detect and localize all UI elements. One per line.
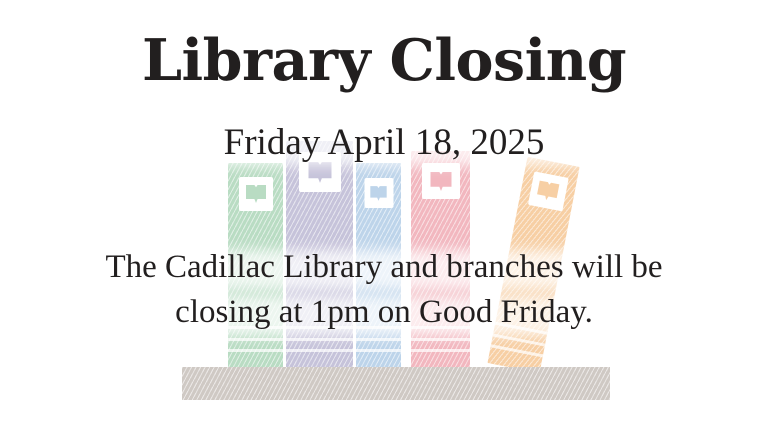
poster-text: Library Closing Friday April 18, 2025 Th… <box>0 0 768 432</box>
poster-message-line-2: closing at 1pm on Good Friday. <box>24 290 744 335</box>
poster-message: The Cadillac Library and branches will b… <box>24 245 744 335</box>
poster-date: Friday April 18, 2025 <box>0 121 768 165</box>
page-title: Library Closing <box>0 27 768 95</box>
library-closing-poster: Library Closing Friday April 18, 2025 Th… <box>0 0 768 432</box>
poster-message-line-1: The Cadillac Library and branches will b… <box>24 245 744 290</box>
